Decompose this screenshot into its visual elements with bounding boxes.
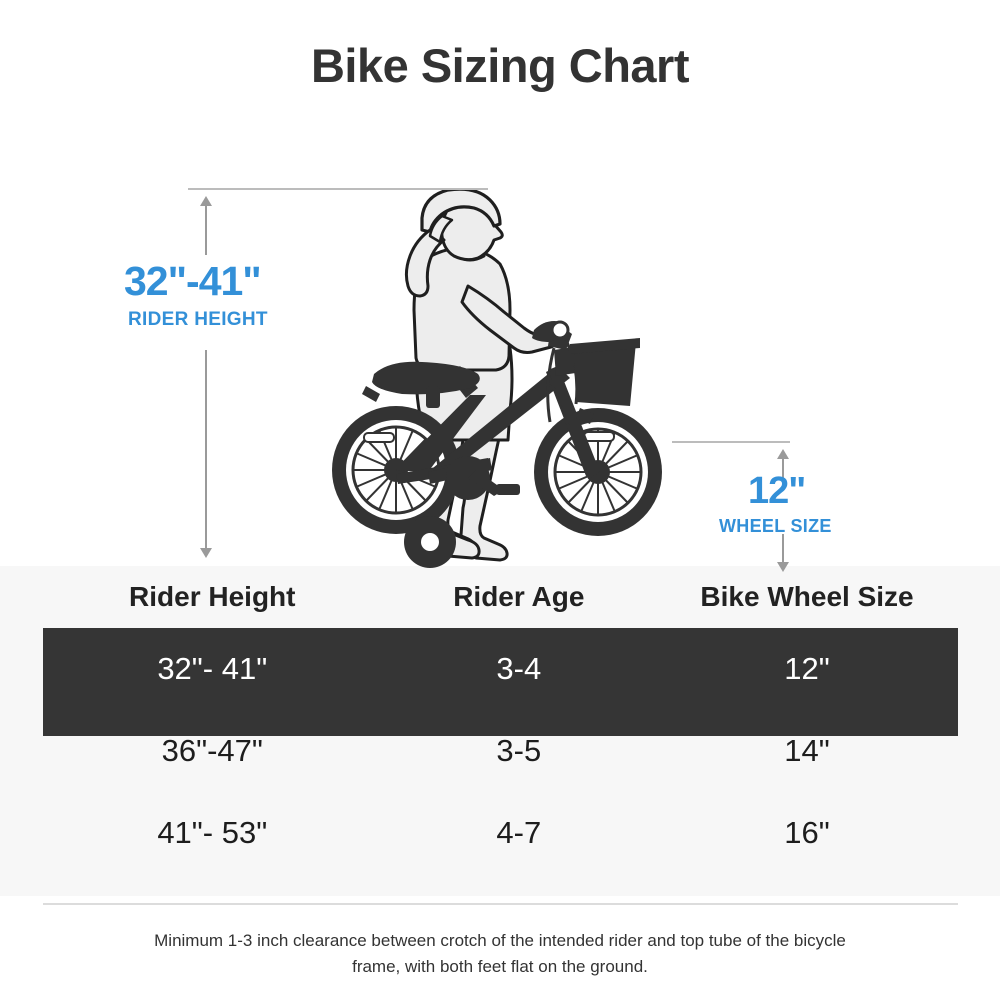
column-header-rider-height: Rider Height: [43, 581, 382, 613]
wheel-size-dimension-line-lower: [782, 534, 784, 562]
cell-rider-age: 3-4: [382, 651, 657, 687]
cell-rider-height: 32"- 41": [43, 651, 382, 687]
cell-rider-age: 4-7: [382, 815, 657, 851]
cell-wheel-size: 16": [656, 815, 958, 851]
table-header-row: Rider Height Rider Age Bike Wheel Size: [43, 566, 958, 628]
table-row[interactable]: 41"- 53" 4-7 16": [43, 792, 958, 874]
column-header-bike-wheel-size: Bike Wheel Size: [656, 581, 958, 613]
cell-wheel-size: 14": [656, 733, 958, 769]
footnote: Minimum 1-3 inch clearance between crotc…: [150, 928, 850, 980]
cell-rider-age: 3-5: [382, 733, 657, 769]
cell-rider-height: 41"- 53": [43, 815, 382, 851]
table-row[interactable]: 32"- 41" 3-4 12": [43, 628, 958, 710]
rider-height-dimension-line-upper: [205, 205, 207, 255]
wheel-size-guide-line: [672, 441, 790, 443]
column-header-rider-age: Rider Age: [382, 581, 657, 613]
table-bottom-rule: [43, 903, 958, 905]
cell-rider-height: 36"-47": [43, 733, 382, 769]
rider-height-callout-label: RIDER HEIGHT: [128, 309, 268, 331]
rider-height-callout-value: 32"-41": [124, 258, 261, 305]
cell-wheel-size: 12": [656, 651, 958, 687]
rider-height-dimension-line-lower: [205, 350, 207, 548]
bike-sizing-infographic: Bike Sizing Chart 32"-41" RIDER HEIGHT 1…: [0, 0, 1000, 1000]
wheel-size-callout-label: WHEEL SIZE: [719, 516, 832, 537]
rider-and-bicycle-illustration: [318, 190, 688, 590]
wheel-size-callout-value: 12": [748, 470, 805, 513]
rider-height-arrow-down-icon: [200, 548, 212, 558]
table-row[interactable]: 36"-47" 3-5 14": [43, 710, 958, 792]
page-title: Bike Sizing Chart: [0, 38, 1000, 93]
sizing-table: Rider Height Rider Age Bike Wheel Size 3…: [43, 566, 958, 874]
